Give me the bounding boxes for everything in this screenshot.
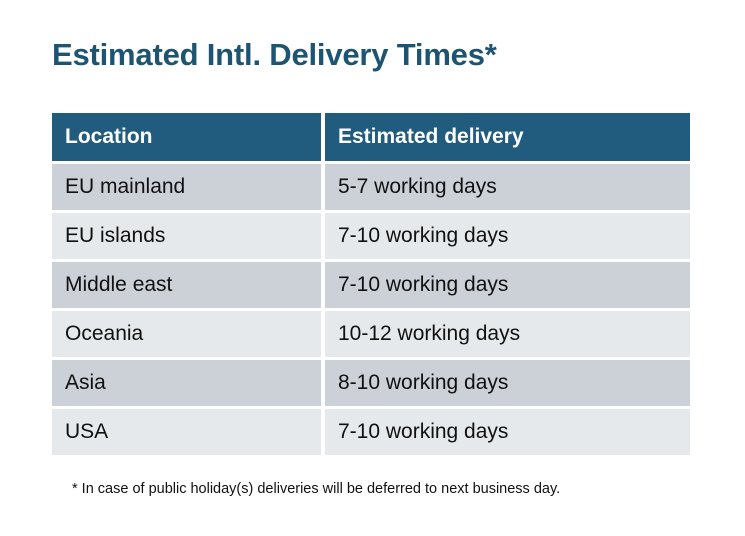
cell-location: USA [52, 409, 321, 455]
column-header-estimated-delivery: Estimated delivery [325, 113, 690, 161]
cell-delivery: 5-7 working days [325, 164, 690, 210]
cell-location: Oceania [52, 311, 321, 357]
footnote-text: * In case of public holiday(s) deliverie… [72, 481, 560, 497]
table-row: EU mainland 5-7 working days [52, 164, 690, 210]
cell-location: Middle east [52, 262, 321, 308]
column-header-location: Location [52, 113, 321, 161]
cell-delivery: 7-10 working days [325, 213, 690, 259]
table-row: USA 7-10 working days [52, 409, 690, 455]
table-header-row: Location Estimated delivery [52, 113, 690, 161]
table-row: Asia 8-10 working days [52, 360, 690, 406]
page-title: Estimated Intl. Delivery Times* [52, 36, 497, 73]
cell-delivery: 10-12 working days [325, 311, 690, 357]
table-body: EU mainland 5-7 working days EU islands … [52, 161, 690, 455]
delivery-times-page: Estimated Intl. Delivery Times* Location… [0, 0, 745, 536]
cell-delivery: 7-10 working days [325, 262, 690, 308]
cell-location: Asia [52, 360, 321, 406]
cell-location: EU islands [52, 213, 321, 259]
table-row: EU islands 7-10 working days [52, 213, 690, 259]
table-row: Middle east 7-10 working days [52, 262, 690, 308]
cell-delivery: 7-10 working days [325, 409, 690, 455]
table-row: Oceania 10-12 working days [52, 311, 690, 357]
cell-delivery: 8-10 working days [325, 360, 690, 406]
table-header: Location Estimated delivery [52, 113, 690, 161]
estimated-delivery-times-table: Location Estimated delivery EU mainland … [52, 113, 690, 455]
cell-location: EU mainland [52, 164, 321, 210]
